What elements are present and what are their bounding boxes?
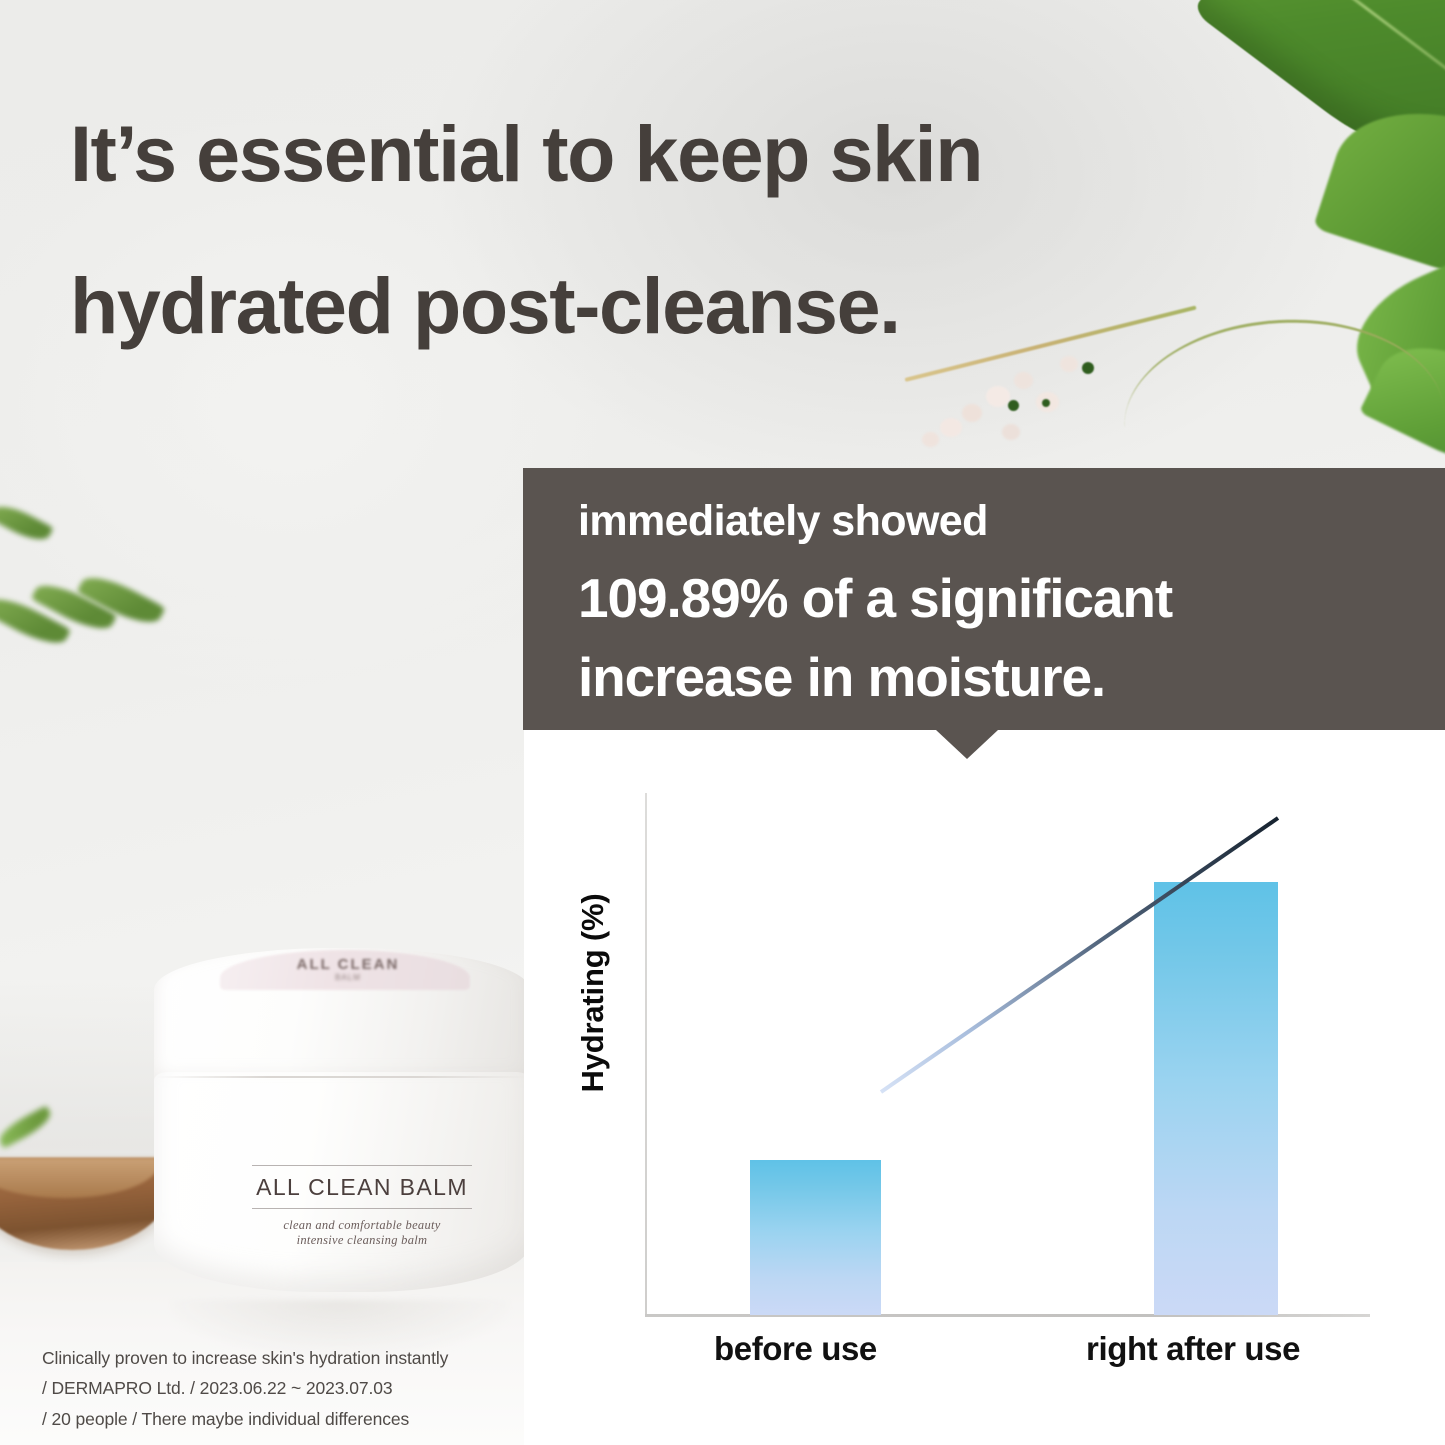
callout-pointer-triangle [936, 730, 998, 759]
bud-icon [962, 404, 982, 422]
label-rule-top [252, 1165, 472, 1166]
callout-line-3: increase in moisture. [578, 638, 1445, 717]
jar-front-label: ALL CLEAN BALM clean and comfortable bea… [252, 1165, 472, 1248]
bud-icon [1002, 424, 1020, 440]
jar-label-title: ALL CLEAN BALM [252, 1166, 472, 1208]
jar-label-sub-2: intensive cleansing balm [252, 1233, 472, 1248]
footnote-line-2: / DERMAPRO Ltd. / 2023.06.22 ~ 2023.07.0… [42, 1373, 522, 1403]
jar-seam [156, 1076, 528, 1078]
clinical-footnote: Clinically proven to increase skin's hyd… [42, 1343, 522, 1434]
x-axis-tick-right-after-use: right after use [1086, 1330, 1300, 1368]
jar-label-sub-1: clean and comfortable beauty [252, 1209, 472, 1233]
product-jar: ALL CLEAN BALM ALL CLEAN BALM clean and … [148, 948, 536, 1300]
headline-line-1: It’s essential to keep skin [70, 78, 1210, 230]
callout-line-1: immediately showed [578, 498, 1445, 545]
bar-right-after-use [1154, 882, 1278, 1315]
callout-line-2: 109.89% of a significant [578, 545, 1445, 638]
jar-top-label-sub: BALM [264, 973, 432, 982]
page-title: It’s essential to keep skin hydrated pos… [70, 78, 1210, 381]
footnote-line-1: Clinically proven to increase skin's hyd… [42, 1343, 522, 1373]
x-axis-tick-before-use: before use [714, 1330, 877, 1368]
label-rule-bottom [252, 1208, 472, 1209]
berry-icon [1042, 399, 1050, 407]
bud-icon [940, 418, 962, 437]
jar-top-label-title: ALL CLEAN [254, 956, 442, 973]
berry-icon [1008, 400, 1019, 411]
hydration-bar-chart: Hydrating (%) before use right after use [524, 730, 1445, 1445]
statistic-callout: immediately showed 109.89% of a signific… [523, 468, 1445, 730]
y-axis-line [645, 793, 647, 1315]
y-axis-label: Hydrating (%) [575, 878, 611, 1108]
callout-content: immediately showed 109.89% of a signific… [523, 468, 1445, 718]
footnote-line-3: / 20 people / There maybe individual dif… [42, 1404, 522, 1434]
bud-icon [922, 432, 939, 447]
headline-line-2: hydrated post-cleanse. [70, 230, 1210, 382]
bud-icon [986, 386, 1010, 407]
bar-before-use [750, 1160, 881, 1315]
